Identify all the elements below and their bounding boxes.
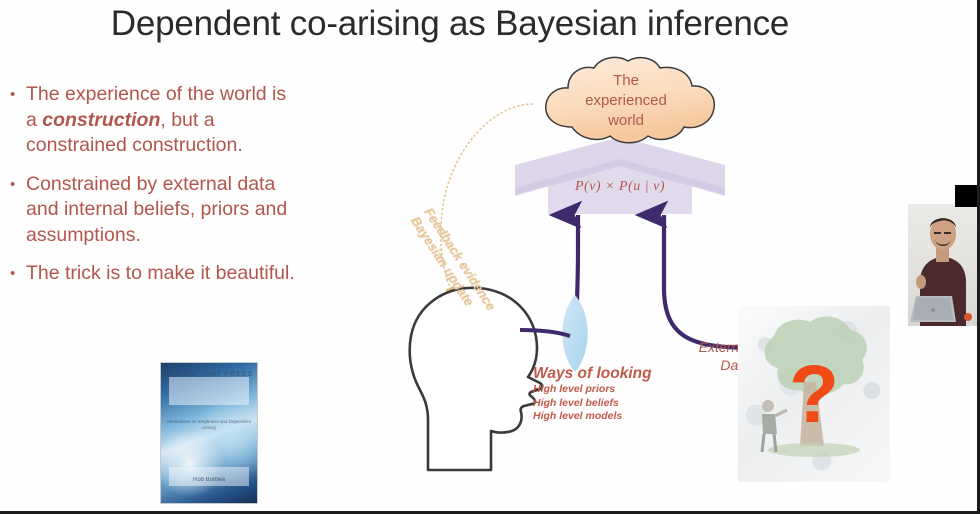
cloud-label-line: experienced bbox=[528, 91, 724, 111]
ways-of-looking-item: High level beliefs bbox=[533, 397, 683, 411]
presenter-hand bbox=[916, 275, 926, 289]
ways-of-looking-item: High level priors bbox=[533, 383, 683, 397]
desk-object bbox=[964, 313, 972, 321]
ways-of-looking-item: High level models bbox=[533, 410, 683, 424]
laptop-logo bbox=[931, 308, 935, 312]
slide-canvas: Dependent co-arising as Bayesian inferen… bbox=[0, 0, 980, 514]
external-data-label: External Data bbox=[655, 338, 750, 374]
question-mark-icon: ? bbox=[789, 349, 839, 440]
experienced-world-cloud: The experienced world bbox=[528, 55, 724, 151]
external-data-line: External bbox=[655, 338, 750, 356]
presenter-webcam-tile bbox=[908, 204, 977, 326]
cloud-label: The experienced world bbox=[528, 71, 724, 131]
video-letterbox-bar bbox=[955, 185, 980, 207]
bayes-formula-text: P(v) × P(u | v) bbox=[515, 179, 725, 195]
person-figure bbox=[762, 400, 787, 452]
cloud-label-line: The bbox=[528, 71, 724, 91]
cloud-label-line: world bbox=[528, 111, 724, 131]
external-data-tree-image: ? bbox=[738, 306, 890, 482]
presenter-neck bbox=[936, 248, 949, 262]
tree-ground bbox=[768, 443, 860, 457]
external-data-line: Data bbox=[655, 356, 750, 374]
bayes-formula-block: P(v) × P(u | v) bbox=[515, 165, 725, 220]
